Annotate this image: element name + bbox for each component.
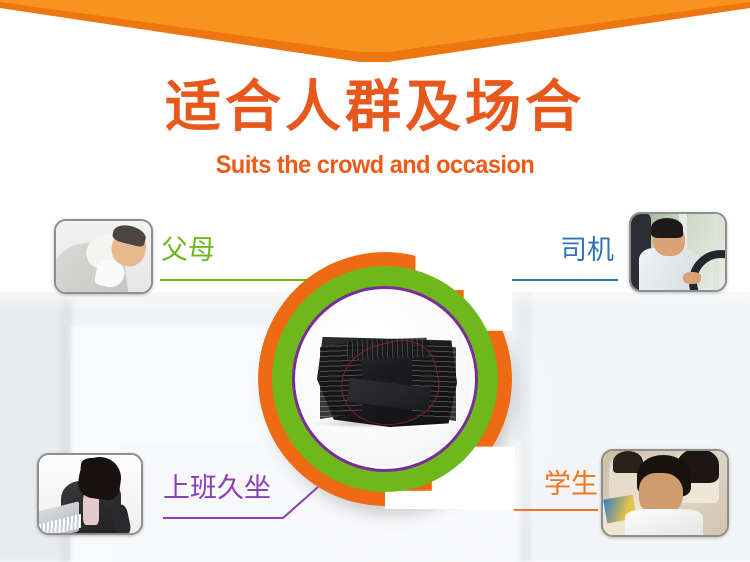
promo-banner-page: 适合人群及场合 Suits the crowd and occasion xyxy=(0,0,750,562)
product-photo-circle xyxy=(297,291,473,467)
photo-office-worker xyxy=(37,453,143,535)
photo-driver xyxy=(629,212,727,292)
photo-students xyxy=(601,449,729,537)
callout-label-parents: 父母 xyxy=(161,236,215,266)
center-ring-graphic xyxy=(258,252,522,528)
callout-label-student: 学生 xyxy=(544,470,598,500)
student-photo-art xyxy=(603,451,727,535)
callout-label-driver: 司机 xyxy=(560,236,614,266)
lumbar-support-belt-image xyxy=(317,335,457,427)
parents-photo-art xyxy=(56,221,151,292)
office-photo-art xyxy=(39,455,141,533)
driver-photo-art xyxy=(631,214,725,290)
photo-parents xyxy=(54,219,153,294)
callout-label-office: 上班久坐 xyxy=(163,474,271,504)
